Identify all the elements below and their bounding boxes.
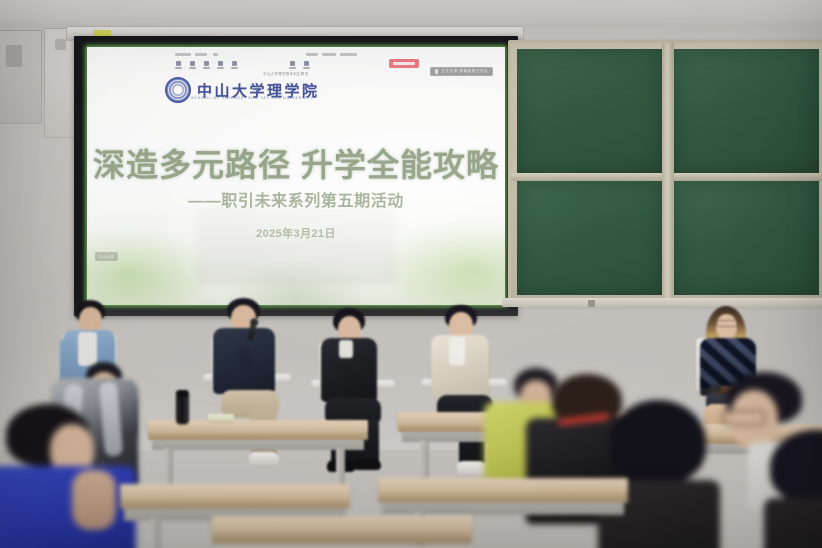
chalkboard-panel-bottom-right xyxy=(674,181,819,295)
ceiling xyxy=(0,0,822,26)
nav-search-icon[interactable] xyxy=(289,61,296,70)
eyeglasses-icon xyxy=(716,320,738,327)
chalkboard-panel-top-right xyxy=(674,49,819,173)
chalkboard-rail-vertical xyxy=(662,43,674,301)
nav-calendar-icon[interactable] xyxy=(231,61,238,70)
topbar-text-a xyxy=(175,53,191,56)
university-logo-row: 中山大学理学院 xyxy=(165,75,431,105)
university-seal-icon xyxy=(165,77,191,103)
nav-user-icon[interactable] xyxy=(303,61,310,70)
classroom-scene: 中山大学理学院 SCHOOL OF SCIENCE, SUN YAT-SEN U… xyxy=(0,0,822,548)
wall-panel-left xyxy=(0,30,42,124)
website-header xyxy=(175,51,419,73)
nav-home-icon[interactable] xyxy=(175,61,182,70)
signup-button[interactable] xyxy=(389,59,419,68)
website-nav-icons[interactable] xyxy=(175,59,419,71)
desk-row-frontmost xyxy=(212,516,472,548)
green-chalkboard xyxy=(508,40,822,304)
nav-book-icon[interactable] xyxy=(217,61,224,70)
chalkboard-panel-bottom-left xyxy=(517,181,662,295)
slide-surface: 中山大学理学院 SCHOOL OF SCIENCE, SUN YAT-SEN U… xyxy=(87,47,505,305)
chalkboard-panels xyxy=(517,49,819,295)
nav-people-icon[interactable] xyxy=(203,61,210,70)
desk-row-mid-left xyxy=(148,420,368,480)
slide-subtitle: ——职引未来系列第五期活动 xyxy=(87,187,505,211)
topbar-text-d xyxy=(322,53,336,56)
slide-date: 2025年3月21日 xyxy=(87,225,505,241)
university-logo-subtext: SCHOOL OF SCIENCE, SUN YAT-SEN UNIVERSIT… xyxy=(191,96,314,100)
audience-eyeglasses-icon xyxy=(722,410,766,426)
thermos-bottle xyxy=(176,390,189,424)
website-topbar xyxy=(175,51,419,57)
topbar-divider xyxy=(213,53,218,56)
slide-photo-badge: 中山大学 xyxy=(95,252,118,261)
topbar-text-e xyxy=(340,53,357,56)
desk-notebook xyxy=(208,414,234,421)
chalkboard-panel-top-left xyxy=(517,49,662,173)
screen-share-text: 正在共享 屏幕图像已开启 xyxy=(441,69,488,74)
university-logo-tag: 中山大学理学院本科生教务 xyxy=(263,71,309,76)
slide-title: 深造多元路径 升学全能攻略 xyxy=(87,140,505,186)
audience-far-right xyxy=(770,430,822,548)
projection-screen[interactable]: 中山大学理学院 SCHOOL OF SCIENCE, SUN YAT-SEN U… xyxy=(74,36,518,316)
share-indicator-icon xyxy=(435,69,438,74)
nav-news-icon[interactable] xyxy=(189,61,196,70)
topbar-text-c xyxy=(306,53,318,56)
screen-share-chip: 正在共享 屏幕图像已开启 xyxy=(430,67,493,76)
topbar-text-b xyxy=(195,53,207,56)
